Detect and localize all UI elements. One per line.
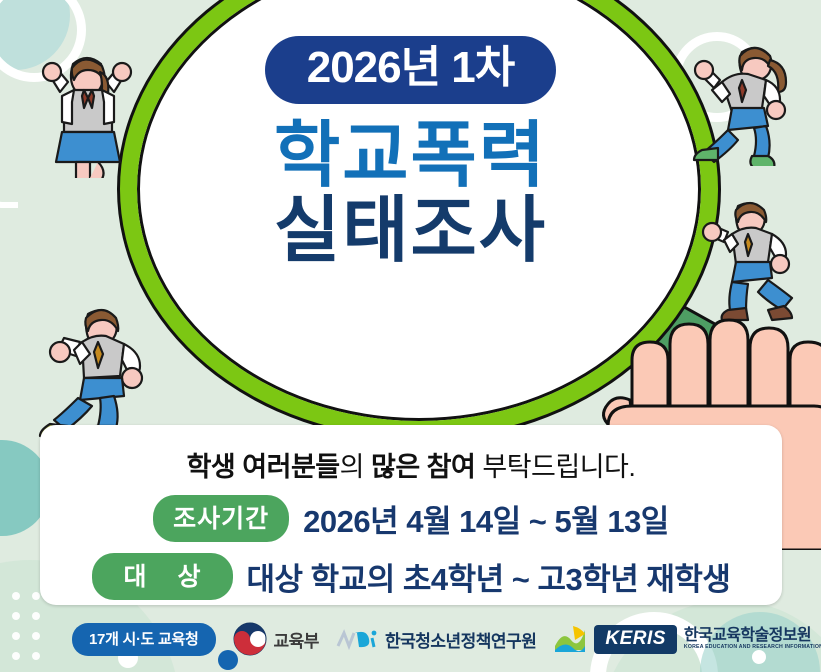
survey-period-value: 2026년 4월 14일 ~ 5월 13일 [303, 496, 669, 541]
moe-logo: 교육부 [233, 622, 319, 656]
keris-wordmark: KERIS [594, 625, 677, 654]
survey-target-row: 대 상 대상 학교의 초4학년 ~ 고3학년 재학생 [92, 553, 731, 600]
survey-target-label: 대 상 [92, 553, 233, 600]
taegeuk-icon [233, 622, 267, 656]
lead-bold-1: 학생 여러분들 [187, 452, 340, 482]
keris-fullname: 한국교육학술정보원 KOREA EDUCATION AND RESEARCH I… [684, 628, 821, 650]
nypi-logo: 한국청소년정책연구원 [336, 627, 536, 652]
info-card: 학생 여러분들의 많은 참여 부탁드립니다. 조사기간 2026년 4월 14일… [40, 425, 782, 605]
lead-normal-2: 부탁드립니다. [475, 452, 635, 482]
education-offices-badge: 17개 시·도 교육청 [72, 623, 216, 656]
survey-period-label: 조사기간 [153, 495, 289, 542]
keris-logo: KERIS 한국교육학술정보원 KOREA EDUCATION AND RESE… [553, 624, 821, 654]
title-line-2: 실태조사 [0, 195, 821, 268]
keris-english-name: KOREA EDUCATION AND RESEARCH INFORMATION… [684, 645, 821, 650]
headline-block: 2026년 1차 학교폭력 실태조사 [0, 0, 821, 269]
nypi-mark-icon [336, 628, 378, 650]
poster-root: 2026년 1차 학교폭력 실태조사 학생 여러분들의 많은 참여 부탁드립니다… [0, 0, 821, 672]
survey-period-row: 조사기간 2026년 4월 14일 ~ 5월 13일 [153, 495, 669, 542]
student-character-bottomleft [34, 300, 164, 445]
lead-bold-2: 많은 참여 [371, 452, 475, 482]
survey-target-value: 대상 학교의 초4학년 ~ 고3학년 재학생 [247, 554, 731, 599]
keris-mark-icon [553, 624, 587, 654]
keris-korean-name: 한국교육학술정보원 [684, 628, 821, 645]
nypi-label: 한국청소년정책연구원 [385, 627, 536, 652]
title-line-1: 학교폭력 [0, 120, 821, 193]
lead-normal-1: 의 [340, 452, 371, 482]
footer-logos: 17개 시·도 교육청 교육부 한국청소년정책연구원 [0, 606, 821, 672]
moe-label: 교육부 [274, 627, 319, 652]
year-badge: 2026년 1차 [265, 36, 557, 104]
lead-message: 학생 여러분들의 많은 참여 부탁드립니다. [187, 445, 636, 484]
